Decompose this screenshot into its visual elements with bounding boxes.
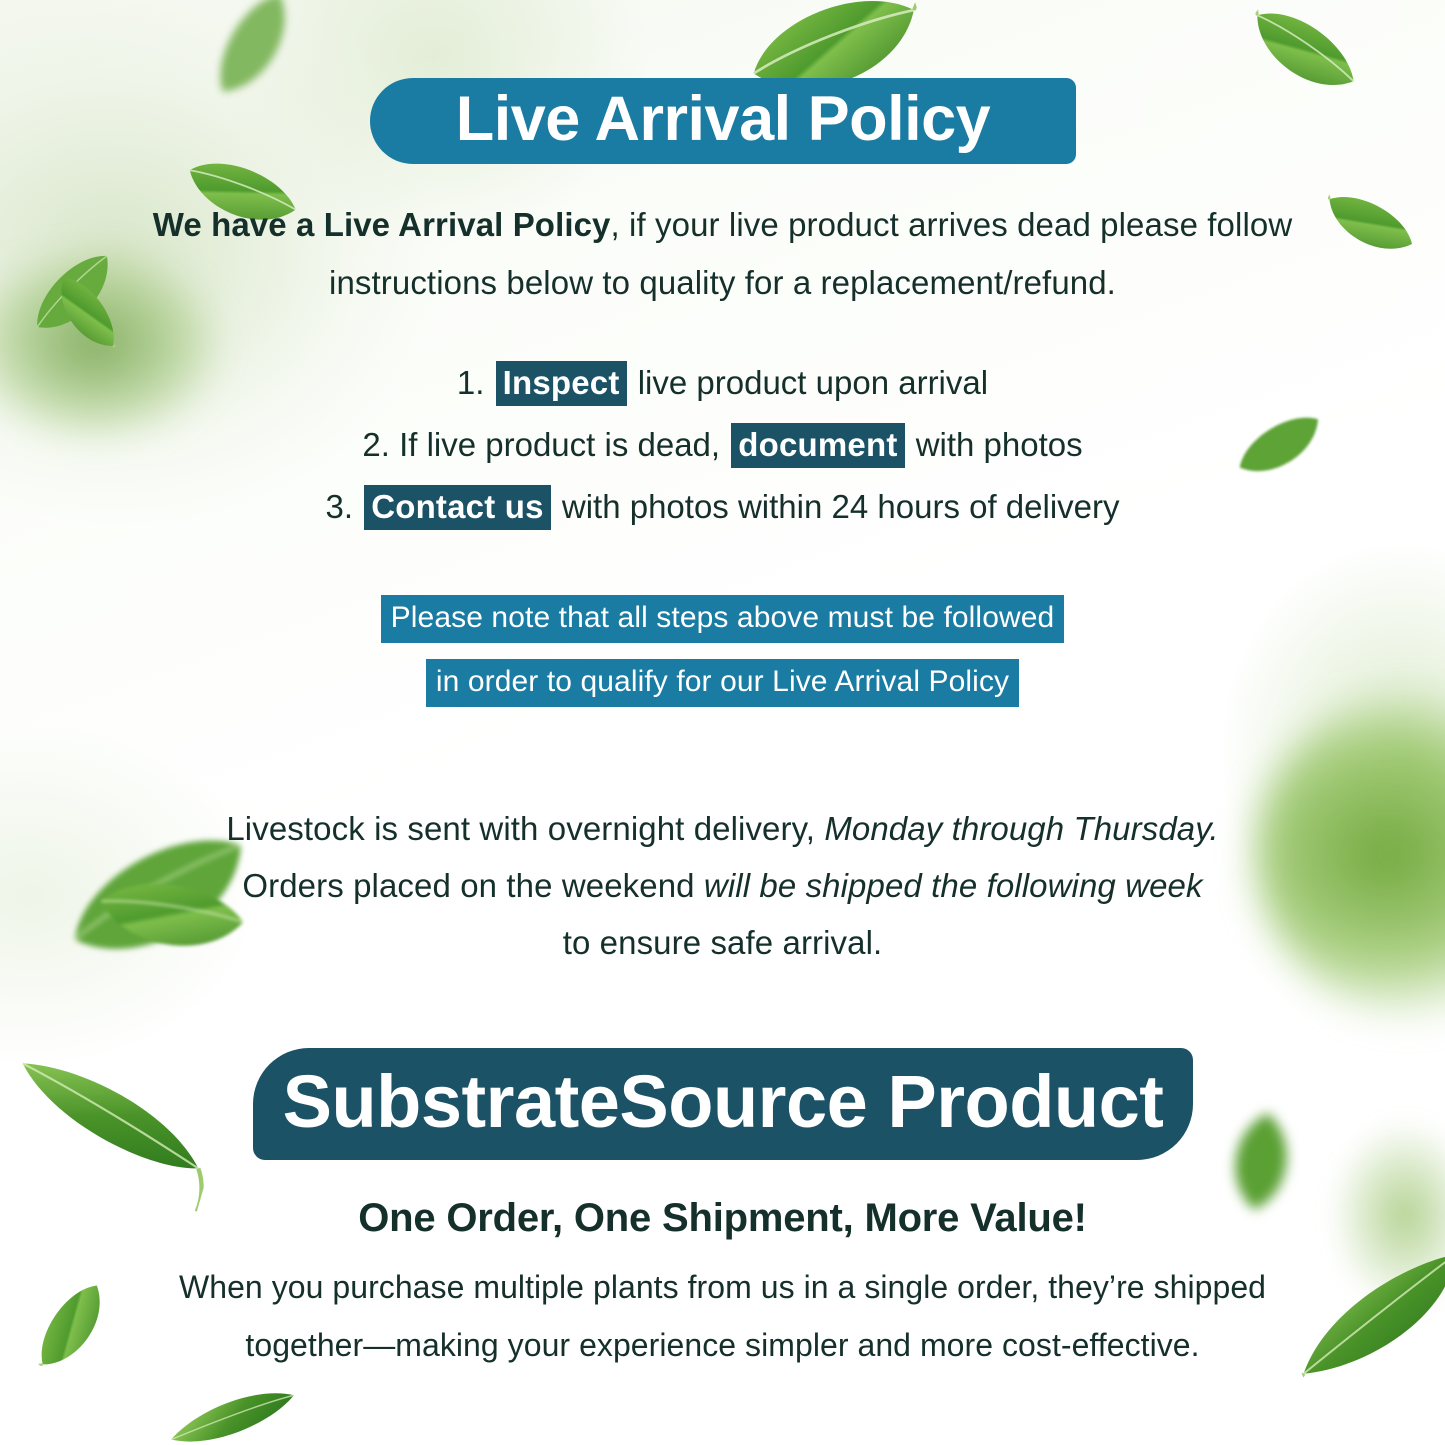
step-3-highlight: Contact us <box>364 485 551 530</box>
shipping-line-1: Livestock is sent with overnight deliver… <box>0 800 1445 857</box>
live-arrival-policy-title: Live Arrival Policy <box>456 83 990 155</box>
step-3-after: with photos within 24 hours of delivery <box>562 488 1120 525</box>
step-2-before: If live product is dead, <box>399 426 720 463</box>
policy-infographic: Live Arrival Policy We have a Live Arriv… <box>0 0 1445 1445</box>
intro-bold-lead: We have a Live Arrival Policy <box>153 206 611 243</box>
shipping-schedule-paragraph: Livestock is sent with overnight deliver… <box>0 800 1445 971</box>
list-item: 3. Contact us with photos within 24 hour… <box>0 476 1445 538</box>
list-item: 2. If live product is dead, document wit… <box>0 414 1445 476</box>
step-2-highlight: document <box>731 423 904 468</box>
step-1-after: live product upon arrival <box>638 364 988 401</box>
shipping-line-1-plain: Livestock is sent with overnight deliver… <box>226 810 815 847</box>
outro-line-2: together—making your experience simpler … <box>0 1316 1445 1374</box>
step-1-highlight: Inspect <box>496 361 627 406</box>
note-line-1-wrapper: Please note that all steps above must be… <box>0 586 1445 650</box>
step-3-number: 3. <box>325 488 353 525</box>
live-arrival-policy-banner: Live Arrival Policy <box>370 78 1076 164</box>
shipping-line-2-italic: will be shipped the following week <box>704 867 1203 904</box>
intro-line-2: instructions below to quality for a repl… <box>0 254 1445 312</box>
intro-paragraph: We have a Live Arrival Policy, if your l… <box>0 196 1445 312</box>
shipping-line-3: to ensure safe arrival. <box>0 914 1445 971</box>
step-1-number: 1. <box>457 364 485 401</box>
step-2-number: 2. <box>362 426 390 463</box>
value-subheading: One Order, One Shipment, More Value! <box>0 1196 1445 1241</box>
outro-line-1: When you purchase multiple plants from u… <box>0 1258 1445 1316</box>
shipping-line-2: Orders placed on the weekend will be shi… <box>0 857 1445 914</box>
substratesource-product-banner: SubstrateSource Product <box>253 1048 1193 1160</box>
intro-line-1: We have a Live Arrival Policy, if your l… <box>0 196 1445 254</box>
shipping-line-2-plain: Orders placed on the weekend <box>242 867 694 904</box>
note-line-2-wrapper: in order to qualify for our Live Arrival… <box>0 650 1445 714</box>
note-line-1: Please note that all steps above must be… <box>381 595 1065 643</box>
policy-note-block: Please note that all steps above must be… <box>0 586 1445 714</box>
policy-steps-list: 1. Inspect live product upon arrival 2. … <box>0 352 1445 538</box>
substratesource-product-title: SubstrateSource Product <box>283 1059 1164 1144</box>
list-item: 1. Inspect live product upon arrival <box>0 352 1445 414</box>
shipping-line-1-italic: Monday through Thursday. <box>824 810 1218 847</box>
note-line-2: in order to qualify for our Live Arrival… <box>426 659 1019 707</box>
intro-rest-line-1: , if your live product arrives dead plea… <box>611 206 1293 243</box>
value-body-paragraph: When you purchase multiple plants from u… <box>0 1258 1445 1374</box>
step-2-after: with photos <box>916 426 1083 463</box>
content-layer: Live Arrival Policy We have a Live Arriv… <box>0 0 1445 1445</box>
